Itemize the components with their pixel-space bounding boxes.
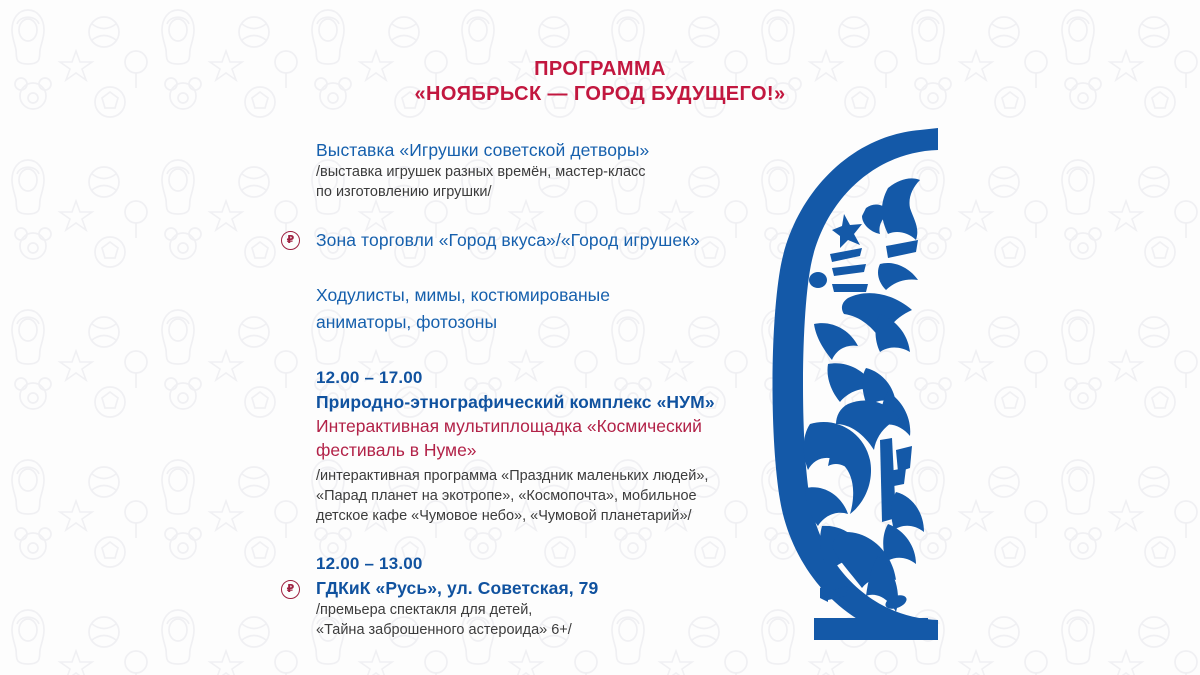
spacer bbox=[278, 526, 778, 552]
entry-desc-line: /интерактивная программа «Праздник мален… bbox=[316, 466, 778, 486]
entry-heading-line: аниматоры, фотозоны bbox=[316, 309, 778, 336]
spacer bbox=[278, 202, 778, 228]
program-list: Выставка «Игрушки советской детворы» /вы… bbox=[278, 138, 778, 640]
program-entry-trade-zone: ₽ Зона торговли «Город вкуса»/«Город игр… bbox=[278, 228, 778, 252]
entry-heading: Выставка «Игрушки советской детворы» bbox=[316, 138, 778, 162]
program-entry-num-complex: 12.00 – 17.00 Природно-этнографический к… bbox=[278, 366, 778, 526]
program-entry-exhibition: Выставка «Игрушки советской детворы» /вы… bbox=[278, 138, 778, 202]
entry-desc-line: по изготовлению игрушки/ bbox=[316, 182, 778, 202]
entry-heading: ГДКиК «Русь», ул. Советская, 79 bbox=[316, 576, 778, 600]
ruble-badge-icon: ₽ bbox=[281, 580, 300, 599]
entry-desc-line: детское кафе «Чумовое небо», «Чумовой пл… bbox=[316, 506, 778, 526]
program-entry-animators: Ходулисты, мимы, костюмированые аниматор… bbox=[278, 282, 778, 336]
entry-desc-line: /выставка игрушек разных времён, мастер-… bbox=[316, 162, 778, 182]
entry-desc-line: «Тайна заброшенного астероида» 6+/ bbox=[316, 620, 778, 640]
poster-canvas: ПРОГРАММА «НОЯБРЬСК — ГОРОД БУДУЩЕГО!» В… bbox=[0, 0, 1200, 675]
title-line-1: ПРОГРАММА bbox=[0, 57, 1200, 82]
entry-desc-line: /премьера спектакля для детей, bbox=[316, 600, 778, 620]
ruble-badge-icon: ₽ bbox=[281, 231, 300, 250]
spacer bbox=[278, 336, 778, 366]
entry-desc-line: «Парад планет на экотропе», «Космопочта»… bbox=[316, 486, 778, 506]
title-line-2: «НОЯБРЬСК — ГОРОД БУДУЩЕГО!» bbox=[0, 82, 1200, 107]
entry-subheading-line: фестиваль в Нуме» bbox=[316, 438, 778, 462]
entry-subheading-line: Интерактивная мультиплощадка «Космически… bbox=[316, 414, 778, 438]
entry-heading-line: Ходулисты, мимы, костюмированые bbox=[316, 282, 778, 309]
program-entry-gdkik-rus: ₽ 12.00 – 13.00 ГДКиК «Русь», ул. Советс… bbox=[278, 552, 778, 640]
poster-title: ПРОГРАММА «НОЯБРЬСК — ГОРОД БУДУЩЕГО!» bbox=[0, 57, 1200, 107]
entry-time: 12.00 – 17.00 bbox=[316, 366, 778, 390]
spacer bbox=[278, 252, 778, 282]
entry-heading: Зона торговли «Город вкуса»/«Город игруш… bbox=[316, 228, 778, 252]
entry-heading: Природно-этнографический комплекс «НУМ» bbox=[316, 390, 778, 414]
folk-ornament-decoration bbox=[770, 128, 960, 640]
entry-time: 12.00 – 13.00 bbox=[316, 552, 778, 576]
